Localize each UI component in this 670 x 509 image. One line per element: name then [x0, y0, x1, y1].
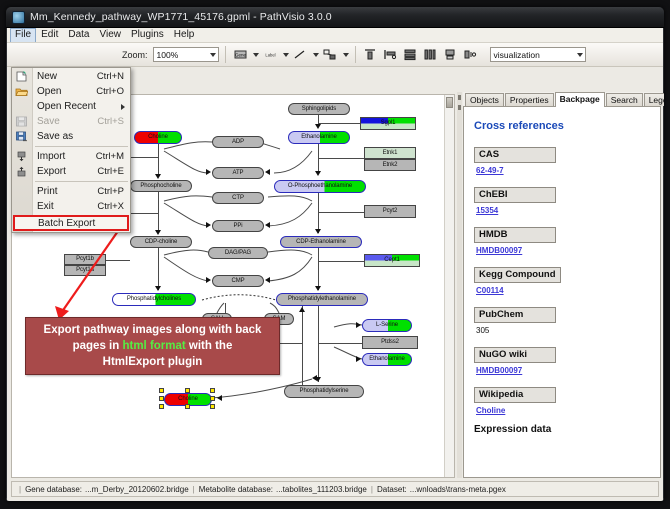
- pathway-node-etnk1[interactable]: Etnk1: [364, 147, 416, 159]
- metabolite-database-value: ...tabolites_111203.bridge: [276, 485, 367, 494]
- svg-text:Gene: Gene: [235, 53, 247, 58]
- pathway-node-ethanolamine-2[interactable]: Ethanolamine: [362, 353, 412, 366]
- menu-item-label: Print: [37, 186, 58, 197]
- status-divider: |: [193, 485, 195, 494]
- menu-item-label: Save as: [37, 131, 73, 142]
- save-disk-icon: [15, 116, 28, 127]
- menu-item-open[interactable]: Open Ctrl+O: [12, 84, 130, 99]
- edge: [318, 212, 364, 213]
- tab-search[interactable]: Search: [606, 93, 643, 106]
- arrow-icon: [315, 377, 321, 382]
- tab-legend[interactable]: Legend: [644, 93, 664, 106]
- menu-item-save: Save Ctrl+S: [12, 114, 130, 129]
- pathway-node-atp[interactable]: ATP: [212, 167, 264, 179]
- menu-separator: [35, 146, 128, 147]
- xref-value-text: 305: [476, 326, 650, 335]
- arrow-icon: [265, 277, 270, 283]
- cross-reference-nugo-wiki: NuGO wiki HMDB00097: [474, 344, 650, 375]
- new-file-icon: [15, 71, 28, 82]
- splitter-grip: [458, 105, 461, 110]
- backpage-content: Cross references CAS 62-49-7 ChEBI 15354…: [463, 107, 661, 478]
- window-titlebar: Mm_Kennedy_pathway_WP1771_45176.gpml - P…: [6, 7, 664, 28]
- menu-item-accelerator: Ctrl+X: [97, 201, 124, 212]
- xref-value-link[interactable]: Choline: [476, 406, 650, 415]
- menu-item-label: New: [37, 71, 57, 82]
- screenshot-root: Mm_Kennedy_pathway_WP1771_45176.gpml - P…: [0, 0, 670, 509]
- edge: [318, 123, 360, 124]
- xref-value-link[interactable]: HMDB00097: [476, 366, 650, 375]
- callout-line2-highlight: html format: [122, 340, 185, 352]
- menu-item-exit[interactable]: Exit Ctrl+X: [12, 199, 130, 214]
- menu-item-save-as[interactable]: Save as: [12, 129, 130, 144]
- menu-item-batch-export[interactable]: Batch Export: [13, 215, 129, 231]
- arrow-icon: [299, 307, 305, 312]
- selection-handle[interactable]: [210, 388, 215, 393]
- menu-item-label: Import: [37, 151, 65, 162]
- edge: [318, 306, 319, 382]
- edge: [158, 192, 159, 233]
- edge: [318, 261, 364, 262]
- menu-edit[interactable]: Edit: [36, 28, 63, 42]
- arrow-icon: [315, 171, 321, 176]
- pathway-node-l-serine[interactable]: L-Serine: [362, 319, 412, 332]
- visualization-chevron-down-icon: [577, 53, 583, 57]
- dataset-value: ...wnloads\trans-meta.pgex: [410, 485, 506, 494]
- status-divider: |: [19, 485, 21, 494]
- arrow-icon: [206, 277, 211, 283]
- pathway-node-etnk2[interactable]: Etnk2: [364, 159, 416, 171]
- menu-item-accelerator: Ctrl+S: [97, 116, 124, 127]
- menu-item-label: Batch Export: [38, 218, 95, 229]
- pathway-node-cdp-choline[interactable]: CDP-choline: [130, 236, 192, 248]
- zoom-label: Zoom:: [122, 50, 148, 60]
- edge: [318, 158, 364, 159]
- visualization-combobox[interactable]: visualization: [490, 47, 586, 62]
- status-bar: | Gene database: ...m_Derby_20120602.bri…: [11, 481, 659, 497]
- cross-reference-wikipedia: Wikipedia Choline: [474, 384, 650, 415]
- menu-item-export[interactable]: Export Ctrl+E: [12, 164, 130, 179]
- edge: [158, 248, 159, 290]
- interaction-tool-chevron-down-icon[interactable]: [343, 53, 349, 57]
- submenu-chevron-right-icon: [121, 104, 125, 110]
- status-divider: |: [371, 485, 373, 494]
- pathway-node-ppi[interactable]: PPi: [212, 220, 264, 232]
- panel-splitter[interactable]: [457, 92, 462, 478]
- menu-plugins[interactable]: Plugins: [126, 28, 169, 42]
- open-folder-icon: [15, 86, 28, 97]
- metabolite-database-label: Metabolite database:: [199, 485, 273, 494]
- menu-file[interactable]: File: [10, 28, 36, 42]
- pathway-node-cmp[interactable]: CMP: [212, 275, 264, 287]
- canvas-vertical-scrollbar[interactable]: [444, 95, 454, 477]
- xref-source-label: NuGO wiki: [474, 347, 556, 363]
- menu-item-accelerator: Ctrl+M: [96, 151, 124, 162]
- line-tool-icon[interactable]: [292, 46, 309, 63]
- stack-vertical-icon[interactable]: [402, 46, 419, 63]
- arrow-icon: [265, 222, 270, 228]
- window-client-area: File Edit Data View Plugins Help Zoom: 1…: [6, 28, 664, 501]
- menu-help[interactable]: Help: [169, 28, 200, 42]
- cross-reference-hmdb: HMDB HMDB00097: [474, 224, 650, 255]
- menu-item-accelerator: Ctrl+P: [97, 186, 124, 197]
- selection-handle[interactable]: [159, 396, 164, 401]
- arrow-icon: [315, 286, 321, 291]
- arrow-icon: [315, 124, 321, 129]
- xref-source-label: ChEBI: [474, 187, 556, 203]
- edge: [158, 144, 159, 177]
- selection-handle[interactable]: [210, 404, 215, 409]
- selection-handle[interactable]: [185, 404, 190, 409]
- pathvisio-app-icon: [12, 11, 25, 24]
- arrow-icon: [206, 222, 211, 228]
- arrow-icon: [356, 322, 361, 328]
- chevron-down-icon: [210, 53, 216, 57]
- menu-item-import[interactable]: Import Ctrl+M: [12, 149, 130, 164]
- pathway-node-choline[interactable]: Choline: [134, 131, 182, 144]
- callout-line3: HtmlExport plugin: [103, 356, 203, 368]
- label-tool-chevron-down-icon[interactable]: [283, 53, 289, 57]
- arrow-icon: [155, 230, 161, 235]
- group-icon[interactable]: [442, 46, 459, 63]
- pathway-node-phosphocholine[interactable]: Phosphocholine: [130, 180, 192, 192]
- menu-item-new[interactable]: New Ctrl+N: [12, 69, 130, 84]
- label-tool-icon[interactable]: Label: [262, 46, 279, 63]
- main-toolbar: Zoom: 100% Gene Label: [7, 43, 663, 67]
- menu-item-accelerator: Ctrl+E: [97, 166, 124, 177]
- menu-item-label: Open Recent: [37, 101, 96, 112]
- tab-objects[interactable]: Objects: [465, 93, 504, 106]
- xref-source-label: PubChem: [474, 307, 556, 323]
- pathway-node-ethanolamine[interactable]: Ethanolamine: [288, 131, 350, 144]
- annotation-callout: Export pathway images along with back pa…: [25, 317, 280, 375]
- distribute-horizontal-icon[interactable]: [422, 46, 439, 63]
- arrow-icon: [356, 356, 361, 362]
- callout-line1: Export pathway images along with back: [44, 324, 262, 336]
- edge: [318, 144, 319, 174]
- tab-properties[interactable]: Properties: [505, 93, 554, 106]
- pathway-node-cdp-ethanolamine[interactable]: CDP-Ethanolamine: [280, 236, 362, 248]
- side-panel: Objects Properties Backpage Search Legen…: [463, 92, 661, 478]
- dataset-label: Dataset:: [377, 485, 407, 494]
- menu-item-label: Save: [37, 116, 60, 127]
- arrow-icon: [315, 229, 321, 234]
- gene-product-tool-icon[interactable]: Gene: [232, 46, 249, 63]
- pathway-node-sgpl1[interactable]: Sgpl1: [360, 117, 416, 130]
- cross-reference-pubchem: PubChem 305: [474, 304, 650, 335]
- callout-line2-post: with the: [186, 340, 233, 352]
- svg-text:Label: Label: [265, 52, 275, 57]
- tab-backpage[interactable]: Backpage: [555, 92, 605, 107]
- menu-item-label: Open: [37, 86, 61, 97]
- menu-separator: [35, 181, 128, 182]
- side-panel-tabs: Objects Properties Backpage Search Legen…: [463, 92, 661, 107]
- menu-item-print[interactable]: Print Ctrl+P: [12, 184, 130, 199]
- pathway-node-pcyt1b[interactable]: Pcyt1b: [64, 254, 106, 265]
- edge: [318, 193, 319, 233]
- pathway-node-ctp[interactable]: CTP: [212, 192, 264, 204]
- zoom-combobox[interactable]: 100%: [153, 47, 219, 62]
- file-menu-dropdown: New Ctrl+N Open Ctrl+O Open Recent: [11, 67, 131, 233]
- pathway-node-cept1[interactable]: Cept1: [364, 254, 420, 267]
- edge: [106, 260, 130, 261]
- pathway-node-ptdss2[interactable]: Ptdss2: [362, 336, 418, 349]
- toolbar-separator-2: [355, 46, 356, 63]
- arrow-icon: [265, 169, 270, 175]
- xref-source-label: Wikipedia: [474, 387, 556, 403]
- gene-database-label: Gene database:: [25, 485, 82, 494]
- arrow-icon: [217, 395, 222, 401]
- edge: [318, 343, 362, 344]
- cross-reference-chebi: ChEBI 15354: [474, 184, 650, 215]
- line-tool-chevron-down-icon[interactable]: [313, 53, 319, 57]
- xref-source-label: CAS: [474, 147, 556, 163]
- arrow-icon: [155, 286, 161, 291]
- pathway-node-phosphatidylcholines[interactable]: Phosphatidylcholines: [112, 293, 196, 306]
- align-top-icon[interactable]: [362, 46, 379, 63]
- menu-item-label: Exit: [37, 201, 54, 212]
- xref-value-link[interactable]: HMDB00097: [476, 246, 650, 255]
- gene-database-value: ...m_Derby_20120602.bridge: [85, 485, 189, 494]
- pathway-node-adp[interactable]: ADP: [212, 136, 264, 148]
- menu-item-accelerator: Ctrl+O: [96, 86, 124, 97]
- cross-reference-kegg-compound: Kegg Compound C00114: [474, 264, 650, 295]
- ungroup-icon[interactable]: [462, 46, 479, 63]
- expression-data-heading: Expression data: [474, 424, 650, 435]
- menu-item-label: Export: [37, 166, 66, 177]
- zoom-value: 100%: [157, 50, 179, 60]
- menu-view[interactable]: View: [94, 28, 126, 42]
- export-icon: [15, 166, 28, 177]
- arrow-icon: [155, 174, 161, 179]
- menu-item-accelerator: Ctrl+N: [97, 71, 124, 82]
- xref-source-label: HMDB: [474, 227, 556, 243]
- toolbar-separator: [225, 46, 226, 63]
- gene-tool-chevron-down-icon[interactable]: [253, 53, 259, 57]
- selection-handle[interactable]: [159, 404, 164, 409]
- interaction-tool-icon[interactable]: [322, 46, 339, 63]
- pathway-node-o-phosphoethanolamine[interactable]: O-Phosphoethanolamine: [274, 180, 366, 193]
- edge: [302, 306, 303, 386]
- align-left-icon[interactable]: [382, 46, 399, 63]
- scrollbar-thumb[interactable]: [446, 97, 453, 108]
- save-as-icon: [15, 131, 28, 142]
- splitter-grip: [458, 95, 461, 100]
- callout-line2-pre: pages in: [73, 340, 123, 352]
- selection-handle[interactable]: [185, 388, 190, 393]
- xref-value-link[interactable]: 62-49-7: [476, 166, 650, 175]
- cross-references-heading: Cross references: [474, 120, 650, 132]
- pathway-node-dag-pag[interactable]: DAG/PAG: [208, 247, 268, 259]
- pathway-node-pcyt2[interactable]: Pcyt2: [364, 205, 416, 218]
- pathway-node-phosphatidylserine[interactable]: Phosphatidylserine: [284, 385, 364, 398]
- edge: [318, 248, 319, 290]
- selection-handle[interactable]: [159, 388, 164, 393]
- import-icon: [15, 151, 28, 162]
- window-title: Mm_Kennedy_pathway_WP1771_45176.gpml - P…: [30, 11, 332, 23]
- pathway-node-phosphatidylethanolamine[interactable]: Phosphatidylethanolamine: [276, 293, 368, 306]
- menu-item-open-recent[interactable]: Open Recent: [12, 99, 130, 114]
- xref-value-link[interactable]: 15354: [476, 206, 650, 215]
- pathvisio-window: Mm_Kennedy_pathway_WP1771_45176.gpml - P…: [6, 7, 664, 501]
- arrow-icon: [206, 169, 211, 175]
- xref-source-label: Kegg Compound: [474, 267, 561, 283]
- cross-reference-cas: CAS 62-49-7: [474, 144, 650, 175]
- menu-data[interactable]: Data: [63, 28, 94, 42]
- xref-value-link[interactable]: C00114: [476, 286, 650, 295]
- menubar: File Edit Data View Plugins Help: [7, 28, 663, 43]
- pathway-node-pcyt1a[interactable]: Pcyt1a: [64, 265, 106, 276]
- visualization-value: visualization: [494, 50, 540, 60]
- selection-handle[interactable]: [210, 396, 215, 401]
- pathway-node-sphingolipids[interactable]: Sphingolipids: [288, 103, 350, 115]
